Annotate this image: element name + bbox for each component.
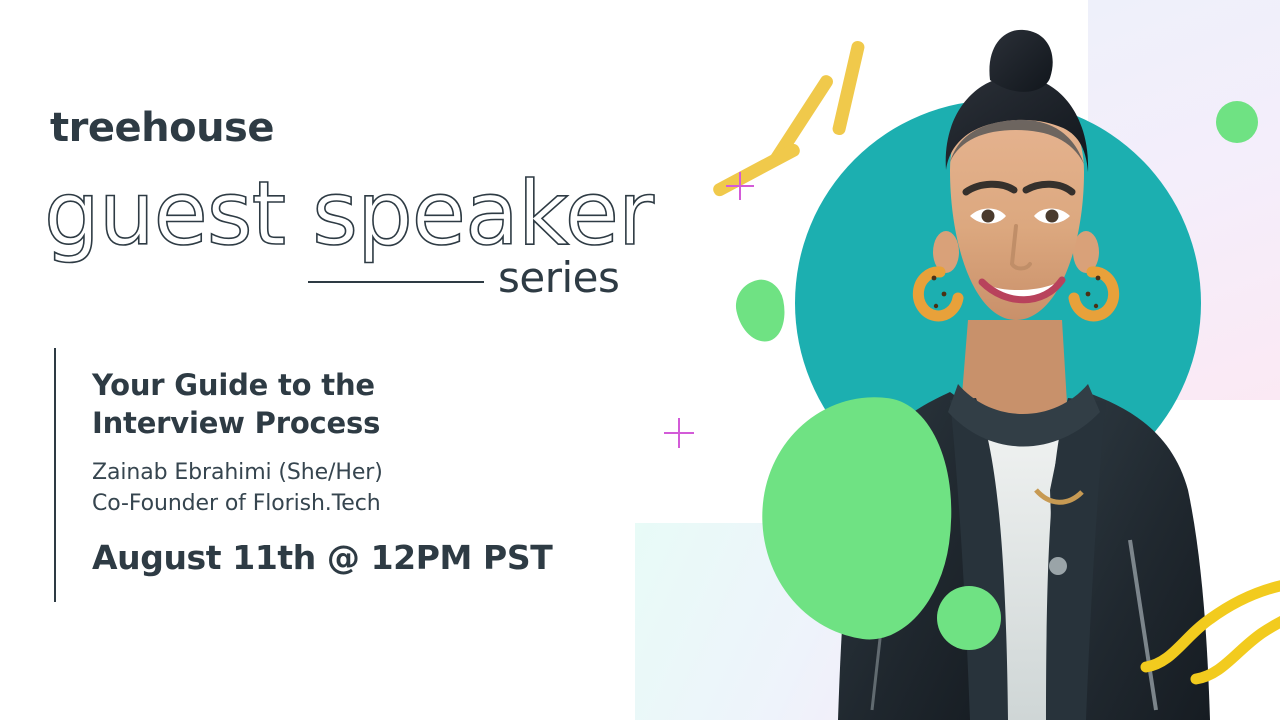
green-blob-small [731,276,791,347]
green-dot [1216,101,1258,143]
brand-wordmark: treehouse [50,108,274,148]
yellow-stroke-icon [711,142,802,199]
talk-title-line-1: Your Guide to the [92,368,375,402]
series-label: series [498,257,619,299]
headline-guest-speaker: guest speaker [44,158,684,268]
event-datetime: August 11th @ 12PM PST [92,541,652,574]
speaker-role: Co-Founder of Florish.Tech [92,488,652,519]
event-info: Your Guide to the Interview Process Zain… [92,366,652,574]
plus-icon [664,418,694,448]
talk-title-line-2: Interview Process [92,406,380,440]
plus-icon [726,172,754,200]
series-divider [308,281,484,283]
promo-graphic: treehouse guest speaker series Your Guid… [0,0,1280,720]
yellow-squiggle-icon [1140,575,1280,685]
green-circle [937,586,1001,650]
talk-title: Your Guide to the Interview Process [92,366,652,443]
speaker-name: Zainab Ebrahimi (She/Her) [92,457,652,488]
headline-text: guest speaker [44,162,655,265]
vertical-accent-bar [54,348,56,602]
